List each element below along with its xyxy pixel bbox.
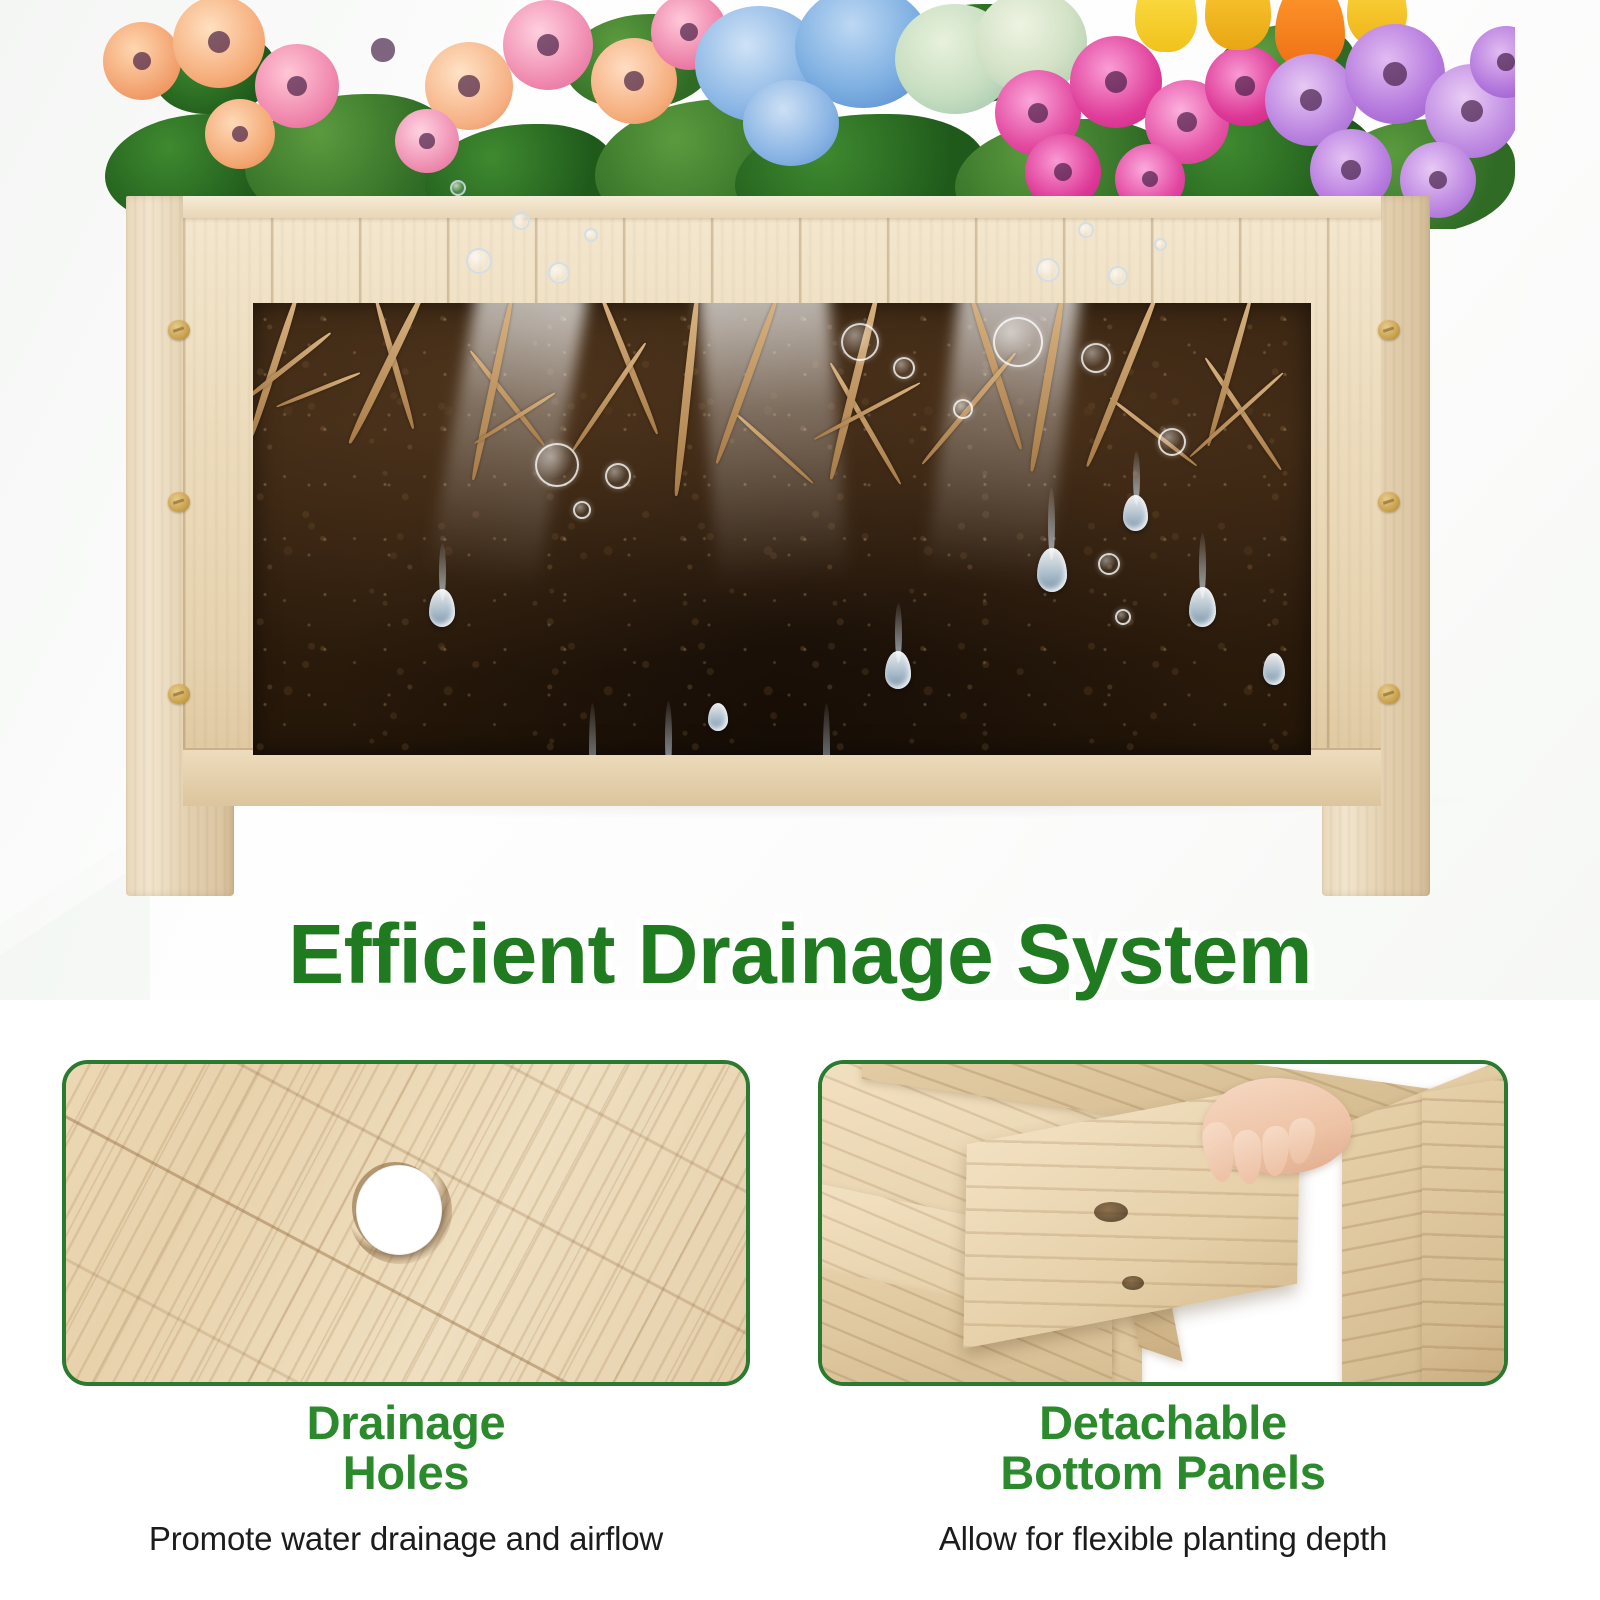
bubble-icon	[953, 399, 973, 419]
bubble-icon	[548, 262, 570, 284]
hero-product-image	[0, 0, 1600, 915]
caption-title: Drainage Holes	[62, 1398, 750, 1498]
screw-icon	[1378, 320, 1400, 340]
bubble-icon	[1108, 266, 1128, 286]
planter-top-rail	[183, 196, 1381, 218]
bubble-icon	[605, 463, 631, 489]
panel-drainage-hole	[1122, 1276, 1144, 1290]
product-feature-page: Efficient Drainage System	[0, 0, 1600, 1600]
drainage-hole	[356, 1165, 442, 1255]
caption-drainage-holes: Drainage Holes Promote water drainage an…	[62, 1398, 750, 1558]
bubble-icon	[1036, 258, 1060, 282]
caption-title: Detachable Bottom Panels	[818, 1398, 1508, 1498]
bubble-icon	[535, 443, 579, 487]
water-droplet-icon	[708, 703, 728, 731]
feature-card-detachable-panels[interactable]	[818, 1060, 1508, 1386]
panel-drainage-hole	[1094, 1202, 1128, 1222]
screw-icon	[168, 492, 190, 512]
bubble-icon	[1098, 553, 1120, 575]
bubble-icon	[893, 357, 915, 379]
bubble-icon	[1158, 428, 1186, 456]
screw-icon	[168, 684, 190, 704]
screw-icon	[1378, 492, 1400, 512]
planter-bottom-rail	[183, 748, 1381, 806]
bubble-icon	[1081, 343, 1111, 373]
section-headline: Efficient Drainage System	[0, 906, 1600, 1003]
soil-cutaway-window	[253, 303, 1311, 755]
caption-title-line2: Bottom Panels	[1000, 1446, 1325, 1499]
bubble-icon	[466, 248, 492, 274]
water-droplet-icon	[1263, 653, 1285, 685]
caption-title-line1: Drainage	[307, 1396, 506, 1449]
bubble-icon	[573, 501, 591, 519]
caption-subtitle: Promote water drainage and airflow	[62, 1520, 750, 1558]
bubble-icon	[993, 317, 1043, 367]
flower-bed	[95, 0, 1515, 229]
bubble-icon	[1078, 222, 1094, 238]
caption-title-line2: Holes	[343, 1446, 470, 1499]
bubble-icon	[1154, 238, 1167, 251]
bubble-icon	[1115, 609, 1131, 625]
screw-icon	[1378, 684, 1400, 704]
caption-title-line1: Detachable	[1039, 1396, 1287, 1449]
bubble-icon	[512, 212, 530, 230]
bubble-icon	[450, 180, 466, 196]
screw-icon	[168, 320, 190, 340]
water-droplet-icon	[1123, 495, 1148, 531]
caption-subtitle: Allow for flexible planting depth	[818, 1520, 1508, 1558]
bubble-icon	[841, 323, 879, 361]
caption-detachable-panels: Detachable Bottom Panels Allow for flexi…	[818, 1398, 1508, 1558]
bubble-icon	[584, 228, 598, 242]
